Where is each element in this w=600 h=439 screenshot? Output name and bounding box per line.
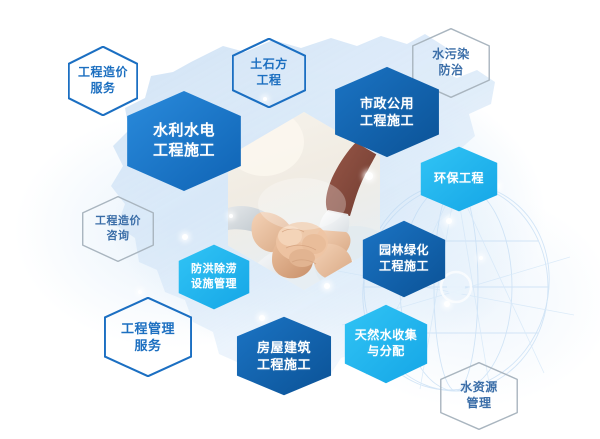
hex-node-label: 水污染 防治 — [432, 47, 470, 79]
hex-node-yuanlin-lvhua[interactable]: 园林绿化 工程施工 — [362, 220, 446, 298]
hex-node-label: 工程造价 服务 — [78, 65, 128, 97]
hex-node-tushifang-gongcheng[interactable]: 土石方 工程 — [232, 38, 306, 108]
sparkle-dot — [312, 400, 320, 408]
hex-node-huanbao-gongcheng[interactable]: 环保工程 — [420, 146, 498, 212]
hex-node-gongcheng-guanli-fuwu[interactable]: 工程管理 服务 — [104, 297, 192, 377]
hex-node-label: 环保工程 — [434, 171, 484, 187]
sparkle-dot — [444, 301, 450, 307]
hex-node-label: 水资源 管理 — [460, 380, 498, 412]
hex-node-label: 园林绿化 工程施工 — [379, 243, 429, 275]
hex-node-label: 市政公用 工程施工 — [360, 95, 414, 129]
sparkle-dot — [324, 283, 330, 289]
sparkle-dot — [182, 234, 188, 240]
sparkle-dot — [355, 410, 359, 414]
hex-node-tianranshui-shouji[interactable]: 天然水收集 与分配 — [344, 304, 428, 384]
sparkle-dot — [208, 387, 212, 391]
sparkle-dot — [446, 218, 452, 224]
sparkle-dot — [479, 256, 483, 260]
hex-node-label: 防洪除涝 设施管理 — [191, 262, 237, 291]
hex-node-label: 工程造价 咨询 — [95, 214, 141, 243]
hex-node-shuiziyuan-guanli[interactable]: 水资源 管理 — [440, 362, 518, 430]
sparkle-dot — [229, 214, 233, 218]
hex-node-label: 水利水电 工程施工 — [153, 121, 215, 161]
hex-node-label: 天然水收集 与分配 — [355, 328, 418, 360]
infographic-canvas: 工程造价 服务土石方 工程水污染 防治水利水电 工程施工市政公用 工程施工环保工… — [0, 0, 600, 439]
hex-node-shuili-shuidian[interactable]: 水利水电 工程施工 — [126, 90, 242, 192]
hex-node-label: 房屋建筑 工程施工 — [257, 339, 311, 373]
hex-node-label: 工程管理 服务 — [121, 320, 175, 354]
hex-node-fangwu-jianzhu[interactable]: 房屋建筑 工程施工 — [236, 316, 332, 396]
hex-node-label: 土石方 工程 — [250, 57, 288, 89]
sparkle-dot — [138, 290, 142, 294]
hex-node-shizheng-gongyong[interactable]: 市政公用 工程施工 — [334, 66, 440, 158]
hex-node-gongcheng-zaojia-zixun[interactable]: 工程造价 咨询 — [82, 196, 154, 262]
sparkle-dot — [365, 172, 373, 180]
